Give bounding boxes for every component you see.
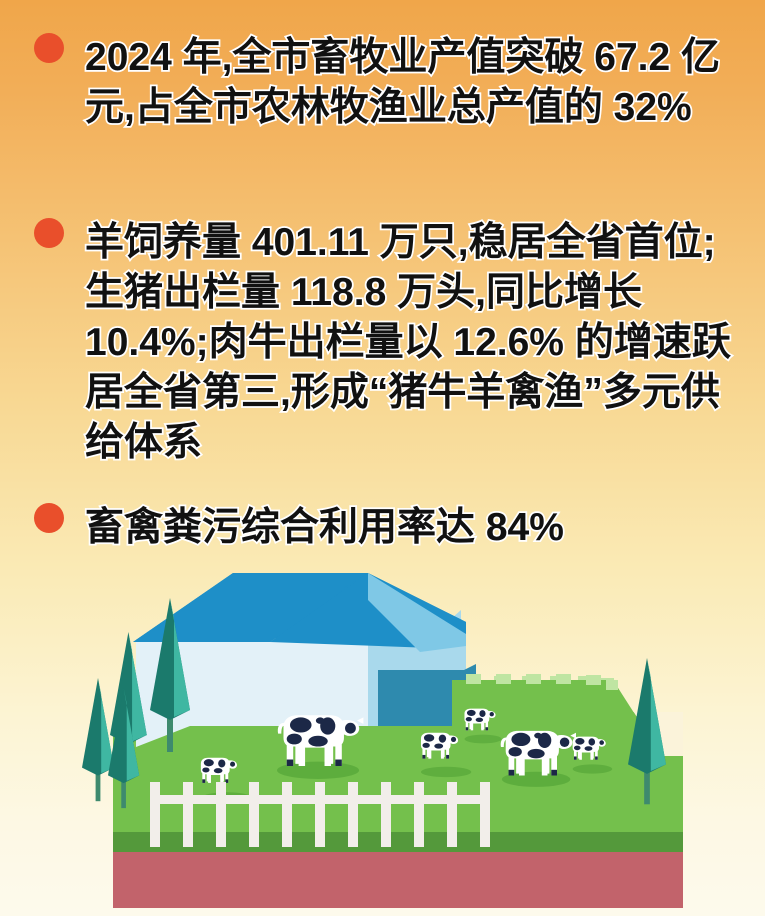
- list-item: 羊饲养量 401.11 万只,稳居全省首位;生猪出栏量 118.8 万头,同比增…: [34, 218, 734, 468]
- farm-platform: [113, 832, 683, 908]
- bullet-dot-icon: [34, 503, 64, 533]
- list-item: 2024 年,全市畜牧业产值突破 67.2 亿元,占全市农林牧渔业总产值的 32…: [34, 33, 734, 133]
- bullet-text: 2024 年,全市畜牧业产值突破 67.2 亿元,占全市农林牧渔业总产值的 32…: [85, 33, 734, 133]
- bullet-dot-icon: [34, 218, 64, 248]
- tree-left-front: [82, 678, 114, 801]
- list-item: 畜禽粪污综合利用率达 84%: [34, 503, 734, 553]
- bullet-dot-icon: [34, 33, 64, 63]
- infographic-page: 2024 年,全市畜牧业产值突破 67.2 亿元,占全市农林牧渔业总产值的 32…: [0, 0, 765, 916]
- bullet-text: 羊饲养量 401.11 万只,稳居全省首位;生猪出栏量 118.8 万头,同比增…: [85, 218, 734, 468]
- livestock-farm-illustration: [0, 560, 765, 916]
- bullet-text: 畜禽粪污综合利用率达 84%: [85, 503, 734, 553]
